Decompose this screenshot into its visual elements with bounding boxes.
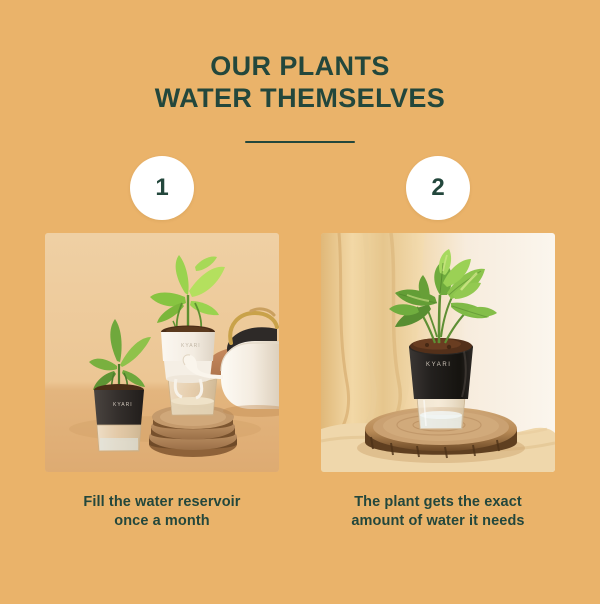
step-1-badge-number: 1 [155, 176, 168, 200]
step-2-caption-line-2: amount of water it needs [318, 512, 558, 531]
step-2-caption: The plant gets the exact amount of water… [318, 493, 558, 531]
step-1-photo: KYARI [45, 233, 279, 472]
page-title-line-2: WATER THEMSELVES [0, 82, 600, 114]
page-title-line-1: OUR PLANTS [0, 50, 600, 82]
step-2-photo-illustration: KYARI [321, 233, 555, 472]
step-2-caption-line-1: The plant gets the exact [318, 493, 558, 512]
step-1-caption-line-1: Fill the water reservoir [42, 493, 282, 512]
step-2-badge: 2 [406, 156, 470, 220]
title-divider [245, 141, 355, 143]
step-1-caption-line-2: once a month [42, 512, 282, 531]
step-1-caption: Fill the water reservoir once a month [42, 493, 282, 531]
svg-text:KYARI: KYARI [426, 362, 452, 368]
step-2-photo: KYARI [321, 233, 555, 472]
steps-row: 1 [0, 156, 600, 556]
page-title: OUR PLANTS WATER THEMSELVES [0, 50, 600, 114]
svg-text:KYARI: KYARI [181, 343, 201, 349]
infographic-page: OUR PLANTS WATER THEMSELVES 1 [0, 0, 600, 604]
water-reservoir [417, 397, 465, 429]
step-1: 1 [45, 156, 279, 556]
step-2-badge-number: 2 [431, 176, 444, 200]
svg-text:KYARI: KYARI [113, 402, 133, 408]
step-2: 2 [321, 156, 555, 556]
step-1-badge: 1 [130, 156, 194, 220]
step-1-photo-illustration: KYARI [45, 233, 279, 472]
